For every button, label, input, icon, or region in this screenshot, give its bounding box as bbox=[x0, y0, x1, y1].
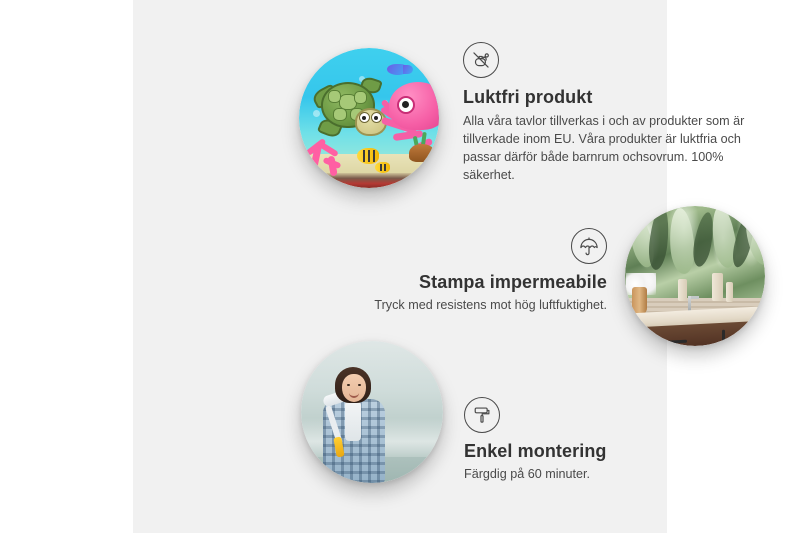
woman-eye bbox=[358, 384, 361, 386]
tree-trunk bbox=[385, 341, 393, 483]
turtle-scute bbox=[333, 108, 347, 121]
content-panel: Luktfri produkt Alla våra tavlor tillver… bbox=[133, 0, 667, 533]
woman-eye bbox=[347, 384, 350, 386]
tree-trunk bbox=[411, 341, 420, 483]
feature-description: Färgdig på 60 minuter. bbox=[464, 466, 726, 484]
paint-roller-icon bbox=[464, 397, 500, 433]
fish-stripe bbox=[368, 150, 370, 162]
product-image-sea-scene bbox=[299, 48, 439, 188]
sea-scene-canvas bbox=[299, 48, 439, 188]
product-image-bathroom-scene bbox=[625, 206, 765, 346]
bottle bbox=[678, 279, 687, 301]
fish-blue-tail bbox=[403, 65, 413, 74]
vase bbox=[632, 287, 647, 315]
feature-description: Alla våra tavlor tillverkas i och av pro… bbox=[463, 113, 759, 185]
product-image-forest-scene bbox=[301, 341, 443, 483]
tree-trunk bbox=[427, 341, 433, 483]
feature-title: Luktfri produkt bbox=[463, 87, 759, 108]
turtle-eye bbox=[371, 112, 382, 123]
feature-title: Enkel montering bbox=[464, 441, 726, 462]
woman-inner-shirt bbox=[345, 401, 361, 441]
bathroom-scene-canvas bbox=[625, 206, 765, 346]
feature-waterproof-print: Stampa impermeabile Tryck med resistens … bbox=[345, 228, 607, 315]
turtle-scute bbox=[354, 91, 367, 104]
bottle bbox=[726, 282, 733, 302]
screenshot-stage: Luktfri produkt Alla våra tavlor tillver… bbox=[0, 0, 800, 533]
feature-odor-free: Luktfri produkt Alla våra tavlor tillver… bbox=[463, 42, 759, 185]
door-handle bbox=[752, 326, 755, 346]
rock bbox=[409, 144, 435, 162]
bottle bbox=[712, 273, 723, 301]
feature-easy-mounting: Enkel montering Färgdig på 60 minuter. bbox=[464, 397, 726, 484]
turtle-eye bbox=[359, 112, 370, 123]
fish-stripe bbox=[373, 150, 375, 162]
feature-title: Stampa impermeabile bbox=[345, 272, 607, 293]
door-handle bbox=[722, 329, 725, 346]
sea-floor-strip bbox=[299, 173, 439, 188]
fish-stripe bbox=[380, 164, 382, 171]
turtle-scute bbox=[328, 90, 341, 103]
fish-yellow bbox=[357, 148, 379, 164]
fish-yellow-small bbox=[375, 162, 390, 173]
fish-stripe bbox=[384, 164, 386, 171]
bubble bbox=[313, 110, 320, 117]
leaf bbox=[668, 207, 697, 275]
octopus-eye bbox=[397, 96, 415, 114]
no-spray-bottle-icon bbox=[463, 42, 499, 78]
tree-trunk bbox=[305, 341, 312, 483]
drawer-handle bbox=[658, 340, 688, 345]
fish-stripe bbox=[363, 150, 365, 162]
umbrella-icon bbox=[571, 228, 607, 264]
forest-scene-canvas bbox=[301, 341, 443, 483]
leaf bbox=[647, 206, 672, 271]
tree-trunk bbox=[399, 341, 404, 483]
feature-description: Tryck med resistens mot hög luftfuktighe… bbox=[345, 297, 607, 315]
